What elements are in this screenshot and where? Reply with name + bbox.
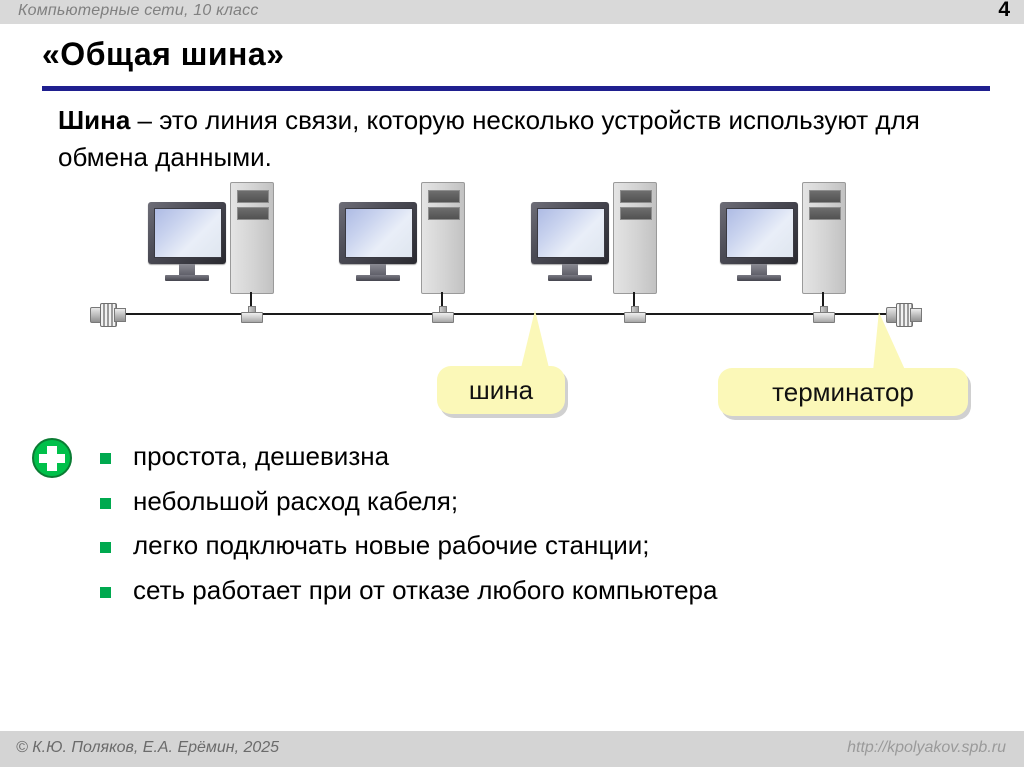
monitor-screen — [345, 208, 413, 258]
tower-drive-slot — [620, 190, 652, 203]
workstation-2 — [333, 180, 508, 330]
tower-drive-slot — [620, 207, 652, 220]
bullet-square-icon — [100, 542, 111, 553]
footer-copyright: © К.Ю. Поляков, Е.А. Ерёмин, 2025 — [16, 739, 279, 757]
monitor-base — [548, 275, 592, 281]
monitor-screen — [154, 208, 222, 258]
course-title: Компьютерные сети, 10 класс — [18, 2, 259, 20]
t-connector-body — [432, 312, 454, 323]
t-connector-body — [241, 312, 263, 323]
advantages-list: простота, дешевизна небольшой расход каб… — [100, 440, 980, 618]
bullet-square-icon — [100, 587, 111, 598]
callout-bus-pointer — [521, 310, 549, 368]
t-connector-body — [624, 312, 646, 323]
top-header-bar: Компьютерные сети, 10 класс 4 — [0, 0, 1024, 24]
t-connector-icon — [624, 306, 644, 322]
tower-drive-slot — [237, 207, 269, 220]
monitor-base — [165, 275, 209, 281]
callout-bus-label: шина — [469, 375, 533, 406]
workstation-1 — [142, 180, 317, 330]
definition-term: Шина — [58, 105, 130, 135]
list-item: простота, дешевизна — [100, 440, 980, 473]
monitor-bezel — [339, 202, 417, 264]
monitor-screen — [726, 208, 794, 258]
monitor-base — [356, 275, 400, 281]
t-connector-body — [813, 312, 835, 323]
green-plus-icon — [32, 438, 72, 478]
monitor-bezel — [720, 202, 798, 264]
list-item: сеть работает при от отказе любого компь… — [100, 574, 980, 607]
terminator-barrel-icon — [114, 308, 126, 322]
definition-rest: – это линия связи, которую несколько уст… — [58, 105, 920, 172]
footer-url[interactable]: http://kpolyakov.spb.ru — [847, 739, 1006, 757]
computer-tower-icon — [421, 182, 465, 294]
callout-terminator: терминатор — [718, 368, 968, 416]
bullet-square-icon — [100, 498, 111, 509]
list-item: легко подключать новые рабочие станции; — [100, 529, 980, 562]
definition-paragraph: Шина – это линия связи, которую нескольк… — [58, 102, 968, 176]
tower-drive-slot — [428, 190, 460, 203]
plus-vertical-bar — [47, 446, 57, 471]
t-connector-icon — [432, 306, 452, 322]
page-number: 4 — [998, 0, 1010, 22]
footer-bar: © К.Ю. Поляков, Е.А. Ерёмин, 2025 http:/… — [0, 731, 1024, 767]
page-title: «Общая шина» — [42, 36, 284, 73]
t-connector-icon — [241, 306, 261, 322]
monitor-icon — [148, 202, 226, 270]
slide-root: Компьютерные сети, 10 класс 4 «Общая шин… — [0, 0, 1024, 767]
list-item-text: простота, дешевизна — [133, 440, 389, 473]
list-item-text: легко подключать новые рабочие станции; — [133, 529, 650, 562]
workstation-4 — [714, 180, 889, 330]
terminator-left — [90, 302, 126, 326]
callout-terminator-box: терминатор — [718, 368, 968, 416]
monitor-bezel — [148, 202, 226, 264]
callout-terminator-label: терминатор — [772, 377, 914, 408]
list-item: небольшой расход кабеля; — [100, 485, 980, 518]
terminator-barrel-icon — [910, 308, 922, 322]
callout-bus-box: шина — [437, 366, 565, 414]
computer-tower-icon — [230, 182, 274, 294]
callout-bus: шина — [437, 366, 565, 414]
title-underline-rule — [42, 86, 990, 91]
monitor-icon — [720, 202, 798, 270]
monitor-bezel — [531, 202, 609, 264]
computer-tower-icon — [613, 182, 657, 294]
monitor-icon — [531, 202, 609, 270]
t-connector-icon — [813, 306, 833, 322]
monitor-icon — [339, 202, 417, 270]
computer-tower-icon — [802, 182, 846, 294]
tower-drive-slot — [809, 190, 841, 203]
workstation-3 — [525, 180, 700, 330]
tower-drive-slot — [237, 190, 269, 203]
monitor-base — [737, 275, 781, 281]
list-item-text: сеть работает при от отказе любого компь… — [133, 574, 717, 607]
tower-drive-slot — [428, 207, 460, 220]
monitor-screen — [537, 208, 605, 258]
list-item-text: небольшой расход кабеля; — [133, 485, 458, 518]
tower-drive-slot — [809, 207, 841, 220]
bullet-square-icon — [100, 453, 111, 464]
